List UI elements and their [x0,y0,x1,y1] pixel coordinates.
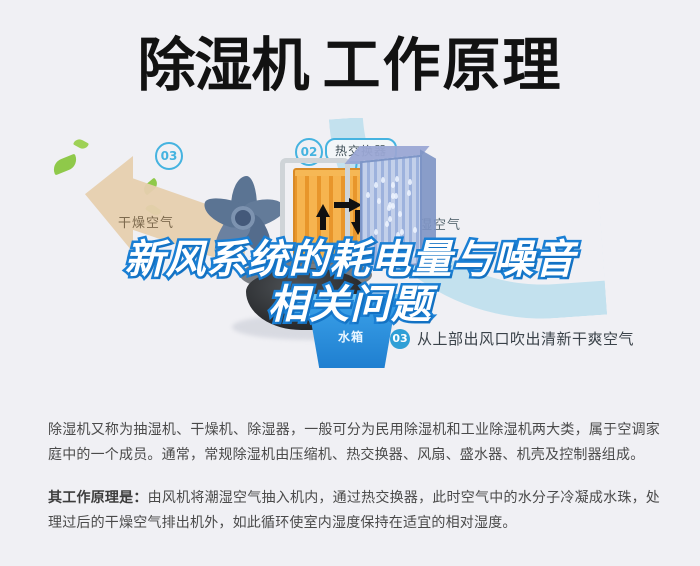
water-droplet-icon [395,176,399,182]
figure-badge-03: 03 [155,142,183,170]
page-header: 除湿机工作原理 [0,22,700,108]
water-droplet-icon [366,192,370,198]
water-droplet-icon [413,227,417,233]
water-droplet-icon [381,177,385,183]
water-droplet-icon [374,229,378,235]
water-droplet-icon [385,221,389,227]
water-droplet-icon [391,182,395,188]
process-step-03: 03 从上部出风口吹出清新干爽空气 [390,328,690,349]
article-body: 除湿机又称为抽湿机、干燥机、除湿器，一般可分为民用除湿机和工业除湿机两大类，属于… [48,418,660,542]
page-title-part2: 工作原理 [323,31,563,99]
process-step-03-number: 03 [390,329,410,349]
paragraph-1: 除湿机又称为抽湿机、干燥机、除湿器，一般可分为民用除湿机和工业除湿机两大类，属于… [48,418,660,468]
water-droplet-icon [398,211,402,217]
water-droplet-icon [408,179,412,185]
water-droplet-icon [408,247,412,253]
water-droplet-icon [377,198,381,204]
water-droplet-icon [388,216,392,222]
water-droplet-icon [390,246,394,252]
paragraph-2-lead: 其工作原理是： [48,490,148,506]
process-step-03-text: 从上部出风口吹出清新干爽空气 [417,328,634,349]
water-droplet-icon [391,203,395,209]
water-droplet-icon [401,249,405,255]
water-tank-label: 水箱 [338,328,364,345]
water-droplet-icon [396,232,400,238]
condensation-droplets [366,174,418,260]
fan-icon [195,170,291,266]
water-droplet-icon [400,229,404,235]
flow-arrow-right-stem [334,202,351,208]
dehumidifier-diagram: 干燥空气 潮湿空气 03 02 01 热交换器 [0,118,700,408]
water-droplet-icon [407,190,411,196]
water-droplet-icon [391,193,395,199]
process-step-list: 03 从上部出风口吹出清新干爽空气 [390,292,690,363]
page-title-part1: 除湿机 [137,31,308,99]
leaf-icon [73,137,89,151]
water-droplet-icon [374,182,378,188]
poster-page: 除湿机工作原理 干燥空气 潮湿空气 03 02 01 热交换器 [0,0,700,566]
water-droplet-icon [412,251,416,257]
flow-arrow-down-stem [320,214,326,230]
paragraph-2: 其工作原理是：由风机将潮湿空气抽入机内，通过热交换器，此时空气中的水分子冷凝成水… [48,486,660,536]
evaporator-side-face [420,149,436,266]
water-droplet-icon [370,240,374,246]
fan-hub [231,206,255,230]
page-title: 除湿机工作原理 [137,36,562,94]
dry-air-label: 干燥空气 [118,212,174,231]
leaf-icon [51,154,80,176]
